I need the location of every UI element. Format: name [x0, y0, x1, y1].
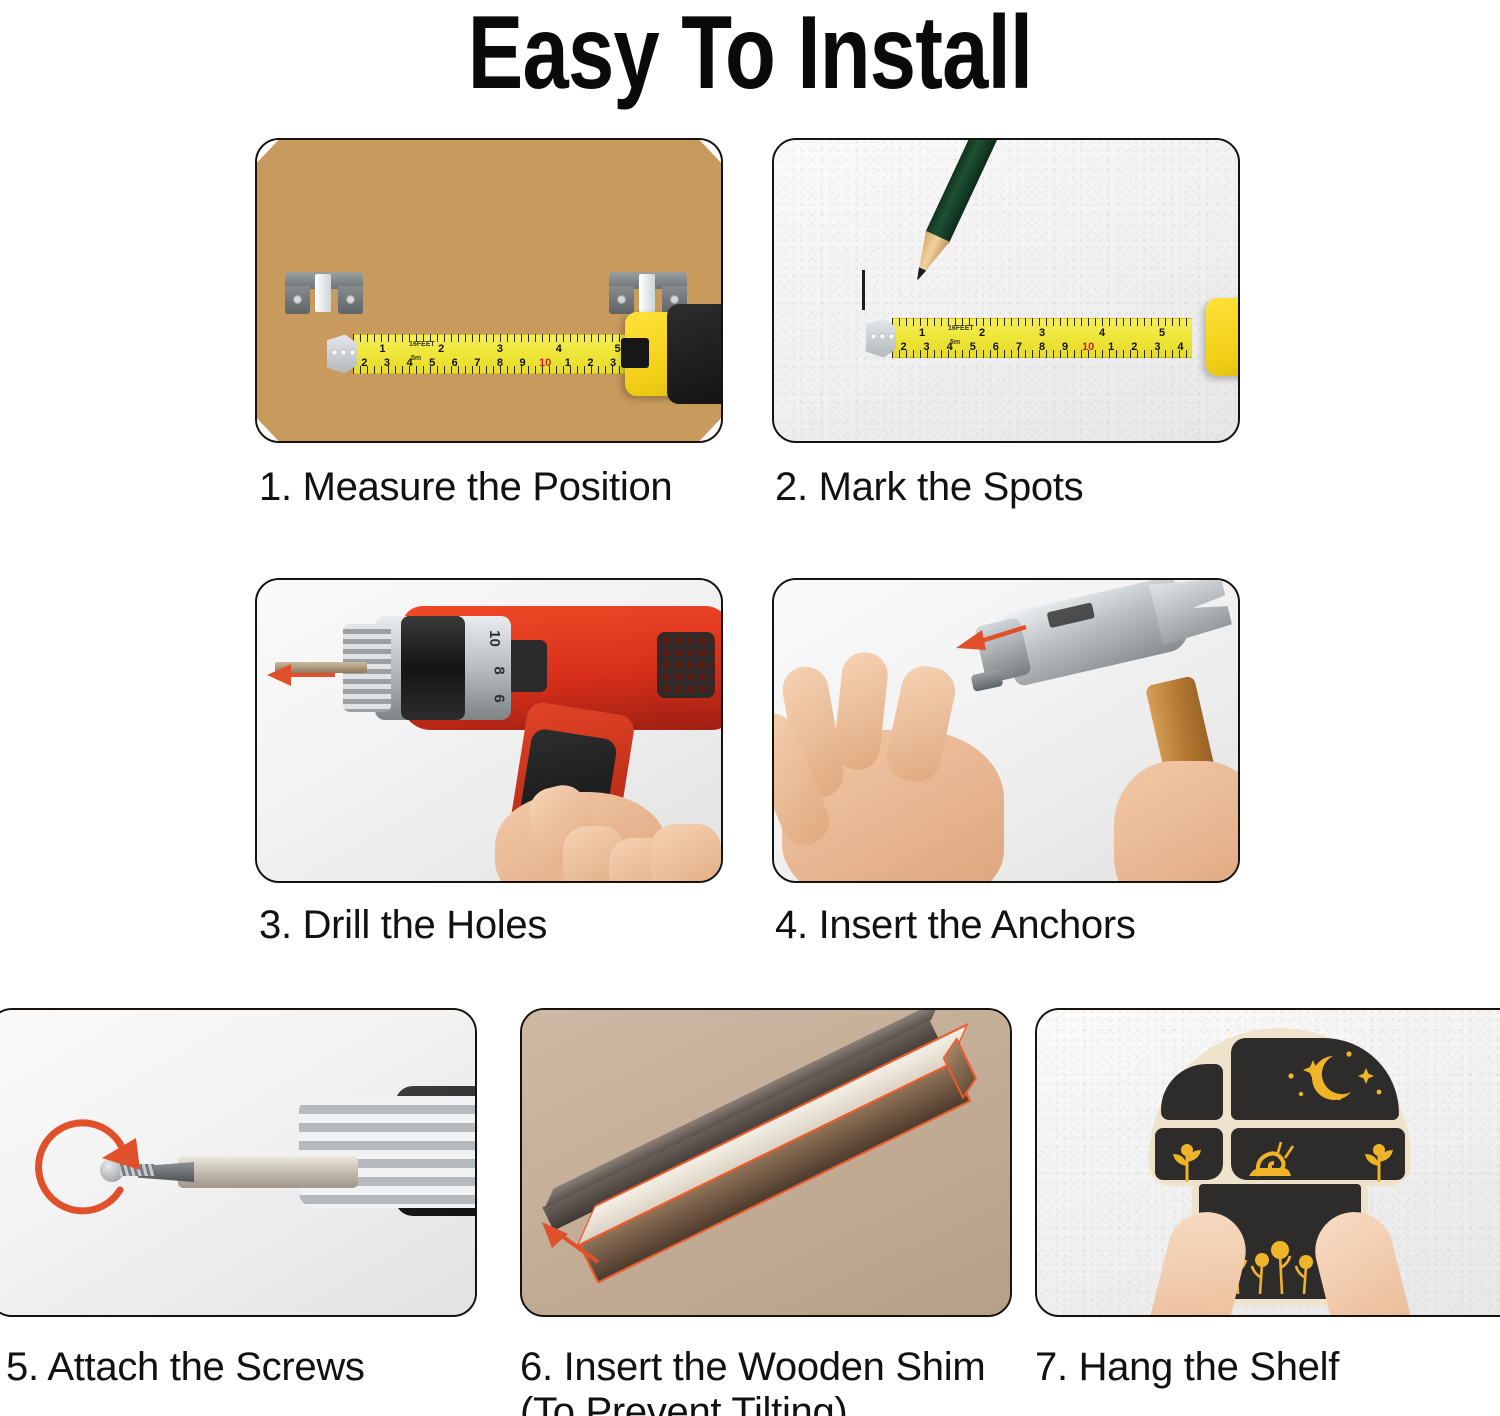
rotation-arrow-icon: [28, 1114, 154, 1226]
step-5-caption: 5. Attach the Screws: [6, 1345, 365, 1390]
tape-cm-numbers: 2 3 4 5 6 7 8 9 10 1 2 3 4: [353, 356, 647, 370]
direction-arrow-icon: [952, 616, 1028, 654]
tape-cm-13: 3: [1146, 341, 1169, 353]
tape-cm-12: 2: [579, 357, 602, 369]
step-3-image: 10 8 6: [255, 578, 723, 883]
tape-cm-11: 1: [556, 357, 579, 369]
tape-metric-label: 5m: [950, 339, 960, 346]
tape-cm-3: 3: [376, 357, 399, 369]
moon-and-stars-icon: [1271, 1046, 1391, 1116]
tape-cm-7: 7: [466, 357, 489, 369]
step-5-image: [0, 1008, 477, 1317]
bracket-screw-hole-right: [670, 295, 679, 304]
install-instructions-page: Easy To Install 1 2: [0, 0, 1500, 1416]
step-2-image: 1 2 3 4 5 2 3 4 5 6 7 8 9 10 1 2 3 4: [772, 138, 1240, 443]
step-4-image: [772, 578, 1240, 883]
page-title: Easy To Install: [150, 0, 1350, 114]
tape-case-slot: [621, 338, 649, 368]
tape-cm-6: 6: [443, 357, 466, 369]
tape-inch-numbers: 1 2 3 4 5: [353, 342, 647, 356]
drill-vent-grille: [657, 632, 715, 698]
textured-wall: [774, 140, 1238, 441]
tape-brand-label: 16FEET: [409, 341, 435, 348]
cap-cell-top-left: [1161, 1064, 1223, 1120]
direction-arrow-icon: [536, 1220, 602, 1266]
drill-torque-6: 6: [490, 694, 507, 702]
tape-inch-numbers: 1 2 3 4 5: [892, 326, 1192, 340]
tape-ticks-imperial: [353, 334, 647, 342]
tape-cm-5: 5: [961, 341, 984, 353]
tape-case-body: [1238, 292, 1240, 384]
tape-measure-blade: 1 2 3 4 5 2 3 4 5 6 7 8 9 10 1 2 3 4: [353, 334, 647, 374]
flower-sprig-left-icon: [1165, 1140, 1209, 1182]
drill-torque-8: 8: [490, 666, 507, 674]
tape-measure-case: [1206, 298, 1240, 376]
driver-chuck: [299, 1096, 477, 1208]
step-6-image: [520, 1008, 1012, 1317]
tape-cm-numbers: 2 3 4 5 6 7 8 9 10 1 2 3 4: [892, 340, 1192, 354]
tape-measure-blade: 1 2 3 4 5 2 3 4 5 6 7 8 9 10 1 2 3 4: [892, 318, 1192, 358]
tape-inch-1: 1: [892, 327, 952, 339]
tape-cm-6: 6: [984, 341, 1007, 353]
shelf-cap: [1149, 1028, 1411, 1186]
tape-cm-10-highlight: 10: [534, 357, 557, 369]
tape-cm-5: 5: [421, 357, 444, 369]
bracket-screw-hole-left: [293, 295, 302, 304]
tape-case-body: [667, 304, 723, 404]
step-7-caption: 7. Hang the Shelf: [1035, 1345, 1339, 1390]
direction-arrow-icon: [265, 658, 337, 692]
tape-inch-1: 1: [353, 343, 412, 355]
step-1-caption: 1. Measure the Position: [259, 465, 672, 510]
wall-bracket-left: [285, 272, 363, 314]
bracket-screw-hole-right: [346, 295, 355, 304]
tape-inch-3: 3: [471, 343, 530, 355]
tape-cm-8: 8: [1030, 341, 1053, 353]
mushroom-shelf: [1037, 1028, 1500, 1317]
tape-inch-3: 3: [1012, 327, 1072, 339]
tape-metric-label: 5m: [411, 355, 421, 362]
step-7-image: [1035, 1008, 1500, 1317]
tape-cm-8: 8: [489, 357, 512, 369]
tape-inch-4: 4: [1072, 327, 1132, 339]
drill-torque-10: 10: [486, 630, 503, 647]
snail-icon: [1247, 1134, 1355, 1180]
bracket-highlight: [639, 274, 655, 312]
tape-cm-9: 9: [1054, 341, 1077, 353]
tape-brand-label: 16FEET: [948, 325, 974, 332]
flower-sprig-right-icon: [1357, 1140, 1401, 1182]
tape-measure-case: [625, 312, 723, 396]
tape-inch-4: 4: [529, 343, 588, 355]
second-hand: [1114, 761, 1240, 883]
tape-cm-10-highlight: 10: [1077, 341, 1100, 353]
drill-chuck: 10 8 6: [375, 616, 511, 720]
tape-ticks-imperial: [892, 318, 1192, 326]
drill-chuck-band: [401, 616, 465, 720]
bracket-highlight: [315, 274, 331, 312]
thumb: [651, 824, 721, 883]
step-4-caption: 4. Insert the Anchors: [775, 903, 1136, 948]
tape-cm-12: 2: [1123, 341, 1146, 353]
step-3-caption: 3. Drill the Holes: [259, 903, 547, 948]
bracket-screw-hole-left: [617, 295, 626, 304]
driver-extension-shaft: [178, 1156, 358, 1188]
tape-cm-11: 1: [1100, 341, 1123, 353]
tape-cm-9: 9: [511, 357, 534, 369]
tape-cm-3: 3: [915, 341, 938, 353]
step-2-caption: 2. Mark the Spots: [775, 465, 1083, 510]
hammer-brand-mark: [1047, 602, 1095, 628]
tape-inch-5: 5: [1132, 327, 1192, 339]
step-1-image: 1 2 3 4 5 2 3 4 5 6 7 8 9 10 1 2 3 4: [255, 138, 723, 443]
tape-cm-14: 4: [1169, 341, 1192, 353]
step-6-caption: 6. Insert the Wooden Shim (To Prevent Ti…: [520, 1345, 985, 1416]
tape-cm-7: 7: [1007, 341, 1030, 353]
pencil-mark: [862, 270, 865, 310]
